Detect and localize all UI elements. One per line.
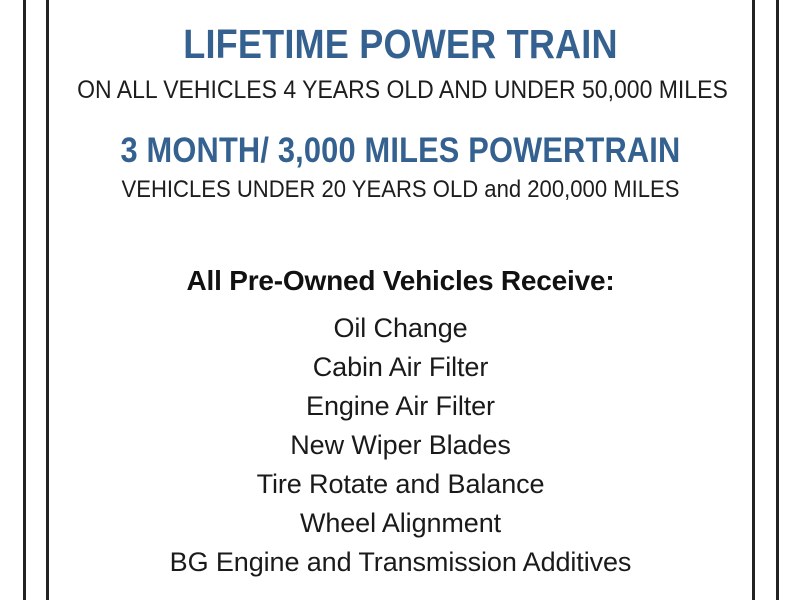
- offer-headline-lifetime-powertrain: LIFETIME POWER TRAIN: [91, 0, 710, 65]
- service-list-item: Cabin Air Filter: [49, 348, 752, 387]
- warranty-flyer: LIFETIME POWER TRAIN ON ALL VEHICLES 4 Y…: [0, 0, 800, 600]
- service-list-item: New Wiper Blades: [49, 426, 752, 465]
- offer-subline-lifetime-powertrain: ON ALL VEHICLES 4 YEARS OLD AND UNDER 50…: [77, 65, 724, 105]
- offer-headline-three-month-powertrain: 3 MONTH/ 3,000 MILES POWERTRAIN: [91, 133, 710, 168]
- service-list-item: Wheel Alignment: [49, 504, 752, 543]
- frame-rule-right-outer: [776, 0, 779, 600]
- offer-block-spacer: [49, 105, 752, 133]
- services-list: Oil Change Cabin Air Filter Engine Air F…: [49, 309, 752, 582]
- service-list-item: BG Engine and Transmission Additives: [49, 543, 752, 582]
- services-section: All Pre-Owned Vehicles Receive: Oil Chan…: [49, 267, 752, 582]
- offer-subline-three-month-powertrain: VEHICLES UNDER 20 YEARS OLD and 200,000 …: [77, 168, 724, 203]
- offer-block-lifetime-powertrain: LIFETIME POWER TRAIN ON ALL VEHICLES 4 Y…: [49, 0, 752, 105]
- services-heading: All Pre-Owned Vehicles Receive:: [49, 267, 752, 295]
- flyer-content: LIFETIME POWER TRAIN ON ALL VEHICLES 4 Y…: [49, 0, 752, 600]
- service-list-item: Oil Change: [49, 309, 752, 348]
- frame-rule-left-outer: [23, 0, 26, 600]
- service-list-item: Tire Rotate and Balance: [49, 465, 752, 504]
- offer-block-three-month-powertrain: 3 MONTH/ 3,000 MILES POWERTRAIN VEHICLES…: [49, 133, 752, 203]
- service-list-item: Engine Air Filter: [49, 387, 752, 426]
- frame-rule-right-inner: [752, 0, 755, 600]
